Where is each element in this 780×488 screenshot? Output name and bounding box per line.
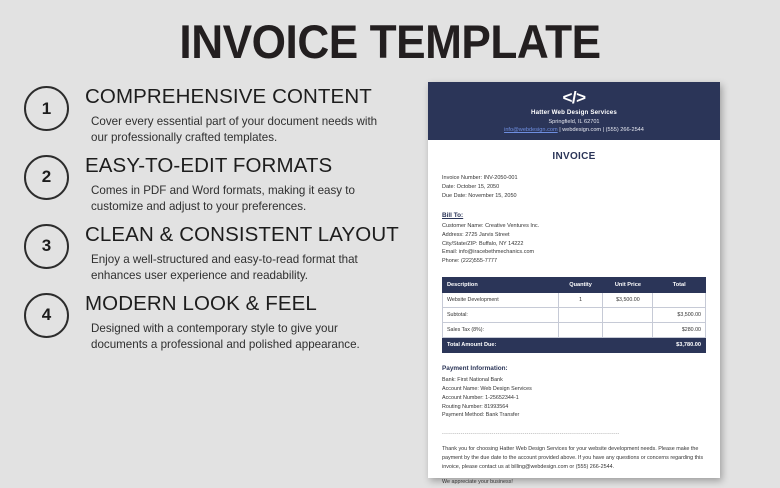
- cell-quantity: [558, 308, 603, 323]
- feature-number-badge: 2: [24, 155, 69, 200]
- section-divider: ----------------------------------------…: [442, 431, 706, 438]
- feature-description: Designed with a contemporary style to gi…: [91, 321, 369, 354]
- feature-number-badge: 3: [24, 224, 69, 269]
- payment-account-number: Account Number: 1-25652344-1: [442, 394, 706, 403]
- table-row: Subtotal: $3,500.00: [443, 308, 706, 323]
- cell-quantity: [558, 323, 603, 338]
- cell-total: $3,500.00: [653, 308, 706, 323]
- invoice-body: INVOICE Invoice Number: INV-2050-001 Dat…: [428, 140, 720, 487]
- bill-to-block: Customer Name: Creative Ventures Inc. Ad…: [442, 222, 706, 267]
- company-name: Hatter Web Design Services: [428, 109, 720, 118]
- feature-list: 1 COMPREHENSIVE CONTENT Cover every esse…: [24, 84, 414, 359]
- total-spacer-unit-price: [603, 338, 653, 353]
- column-header-unit-price: Unit Price: [603, 278, 653, 293]
- invoice-document-preview: </> Hatter Web Design Services Springfie…: [428, 82, 720, 478]
- table-row: Sales Tax (8%): $280.00: [443, 323, 706, 338]
- list-item: 4 MODERN LOOK & FEEL Designed with a con…: [24, 291, 414, 354]
- feature-description: Cover every essential part of your docum…: [91, 114, 387, 147]
- invoice-title: INVOICE: [442, 151, 706, 162]
- feature-description: Enjoy a well-structured and easy-to-read…: [91, 252, 387, 285]
- code-brackets-icon: </>: [428, 89, 720, 106]
- company-contact-line: info@webdesign.com | webdesign.com | (55…: [428, 126, 720, 134]
- bill-to-heading: Bill To:: [442, 212, 706, 219]
- invoice-footer-closing: We appreciate your business!: [442, 478, 706, 487]
- list-item: 2 EASY-TO-EDIT FORMATS Comes in PDF and …: [24, 153, 414, 216]
- total-spacer-quantity: [558, 338, 603, 353]
- total-amount: $3,780.00: [653, 338, 706, 353]
- cell-total: $280.00: [653, 323, 706, 338]
- invoice-due-date: Due Date: November 15, 2050: [442, 192, 706, 201]
- line-items-table: Description Quantity Unit Price Total We…: [442, 277, 706, 353]
- cell-unit-price: [603, 323, 653, 338]
- invoice-number: Invoice Number: INV-2050-001: [442, 174, 706, 183]
- column-header-quantity: Quantity: [558, 278, 603, 293]
- column-header-total: Total: [653, 278, 706, 293]
- company-address: Springfield, IL 62701: [428, 118, 720, 126]
- payment-information-heading: Payment Information:: [442, 365, 706, 372]
- payment-information-block: Bank: First National Bank Account Name: …: [442, 376, 706, 420]
- feature-heading: CLEAN & CONSISTENT LAYOUT: [85, 224, 414, 247]
- cell-unit-price: $3,500.00: [603, 293, 653, 308]
- total-label: Total Amount Due:: [443, 338, 559, 353]
- cell-description: Subtotal:: [443, 308, 559, 323]
- feature-heading: EASY-TO-EDIT FORMATS: [85, 155, 414, 178]
- cell-description: Website Development: [443, 293, 559, 308]
- feature-heading: MODERN LOOK & FEEL: [85, 293, 414, 316]
- table-row: Website Development 1 $3,500.00: [443, 293, 706, 308]
- table-header-row: Description Quantity Unit Price Total: [443, 278, 706, 293]
- bill-to-email: Email: info@iracebethmechanics.com: [442, 248, 706, 257]
- page-title: INVOICE TEMPLATE: [23, 14, 756, 69]
- feature-heading: COMPREHENSIVE CONTENT: [85, 86, 414, 109]
- payment-account-name: Account Name: Web Design Services: [442, 385, 706, 394]
- cell-total: [653, 293, 706, 308]
- cell-unit-price: [603, 308, 653, 323]
- feature-number-badge: 1: [24, 86, 69, 131]
- cell-description: Sales Tax (8%):: [443, 323, 559, 338]
- feature-number-badge: 4: [24, 293, 69, 338]
- poster-canvas: INVOICE TEMPLATE 1 COMPREHENSIVE CONTENT…: [0, 0, 780, 488]
- bill-to-customer-name: Customer Name: Creative Ventures Inc.: [442, 222, 706, 231]
- feature-text-block: EASY-TO-EDIT FORMATS Comes in PDF and Wo…: [69, 153, 414, 216]
- invoice-date: Date: October 15, 2050: [442, 183, 706, 192]
- payment-routing-number: Routing Number: 81993564: [442, 403, 706, 412]
- feature-text-block: MODERN LOOK & FEEL Designed with a conte…: [69, 291, 414, 354]
- payment-bank: Bank: First National Bank: [442, 376, 706, 385]
- cell-quantity: 1: [558, 293, 603, 308]
- table-total-row: Total Amount Due: $3,780.00: [443, 338, 706, 353]
- invoice-header-banner: </> Hatter Web Design Services Springfie…: [428, 82, 720, 140]
- bill-to-city-state-zip: City/State/ZIP: Buffalo, NY 14222: [442, 240, 706, 249]
- payment-method: Payment Method: Bank Transfer: [442, 411, 706, 420]
- company-contact-rest: | webdesign.com | (555) 266-2544: [558, 127, 644, 133]
- feature-text-block: CLEAN & CONSISTENT LAYOUT Enjoy a well-s…: [69, 222, 414, 285]
- company-email-link[interactable]: info@webdesign.com: [504, 127, 558, 133]
- list-item: 3 CLEAN & CONSISTENT LAYOUT Enjoy a well…: [24, 222, 414, 285]
- feature-text-block: COMPREHENSIVE CONTENT Cover every essent…: [69, 84, 414, 147]
- column-header-description: Description: [443, 278, 559, 293]
- invoice-footer-paragraph: Thank you for choosing Hatter Web Design…: [442, 445, 706, 471]
- invoice-meta-block: Invoice Number: INV-2050-001 Date: Octob…: [442, 174, 706, 201]
- bill-to-phone: Phone: (222)555-7777: [442, 257, 706, 266]
- list-item: 1 COMPREHENSIVE CONTENT Cover every esse…: [24, 84, 414, 147]
- bill-to-address: Address: 2725 Jarvis Street: [442, 231, 706, 240]
- feature-description: Comes in PDF and Word formats, making it…: [91, 183, 387, 216]
